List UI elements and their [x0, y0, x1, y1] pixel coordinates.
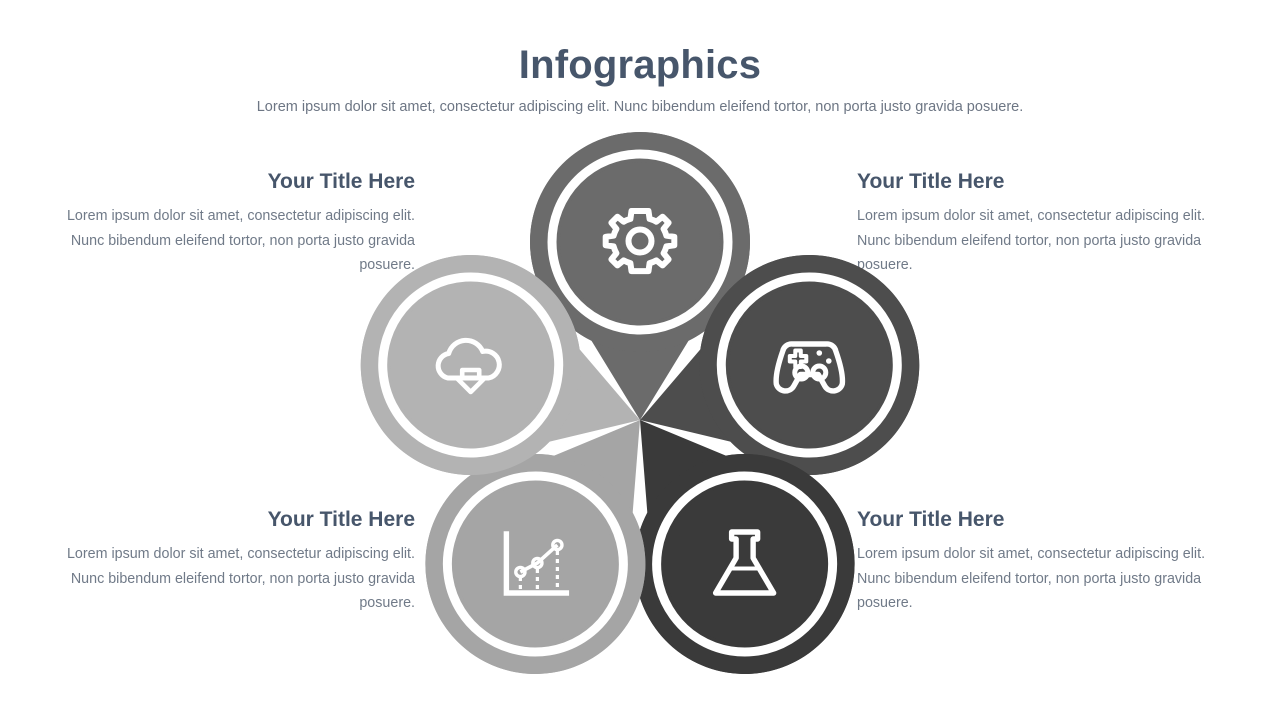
page-header: Infographics Lorem ipsum dolor sit amet,… [0, 44, 1280, 117]
page-subtitle: Lorem ipsum dolor sit amet, consectetur … [0, 97, 1280, 117]
petal-gear-disc [560, 162, 720, 322]
pinwheel-diagram [340, 130, 940, 690]
page-title: Infographics [0, 44, 1280, 86]
